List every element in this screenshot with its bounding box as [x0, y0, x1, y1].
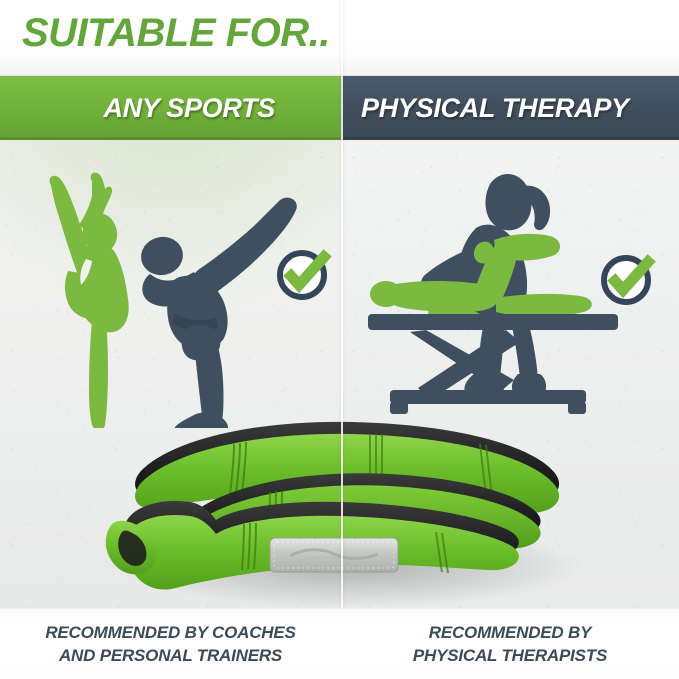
karate-kick-silhouette-icon — [138, 196, 304, 428]
footer-coaches-line-1: RECOMMENDED BY COACHES — [45, 622, 295, 644]
banner-label-any-sports: ANY SPORTS — [103, 93, 341, 124]
panel-divider — [341, 0, 343, 679]
footer-coaches: RECOMMENDED BY COACHES AND PERSONAL TRAI… — [0, 609, 341, 679]
footer-therapists-line-2: PHYSICAL THERAPISTS — [413, 645, 607, 667]
title-bar: SUITABLE FOR.. — [0, 0, 679, 76]
therapy-scene-icon — [368, 166, 636, 422]
infographic-canvas: SUITABLE FOR.. ANY SPORTS PHYSICAL THERA… — [0, 0, 679, 679]
page-title: SUITABLE FOR.. — [22, 11, 330, 56]
stretching-strap-product — [84, 396, 604, 612]
footer-therapists: RECOMMENDED BY PHYSICAL THERAPISTS — [341, 609, 679, 679]
patient-silhouette — [370, 234, 592, 323]
check-badge-any-sports — [274, 243, 336, 305]
banner-physical-therapy: PHYSICAL THERAPY — [341, 76, 679, 140]
banner-label-physical-therapy: PHYSICAL THERAPY — [341, 93, 629, 124]
footer-bar: RECOMMENDED BY COACHES AND PERSONAL TRAI… — [0, 608, 679, 679]
banner-any-sports: ANY SPORTS — [0, 76, 341, 140]
footer-therapists-line-1: RECOMMENDED BY — [429, 622, 592, 644]
product-logo-label — [270, 538, 398, 572]
check-badge-physical-therapy — [598, 248, 660, 310]
footer-coaches-line-2: AND PERSONAL TRAINERS — [59, 645, 282, 667]
